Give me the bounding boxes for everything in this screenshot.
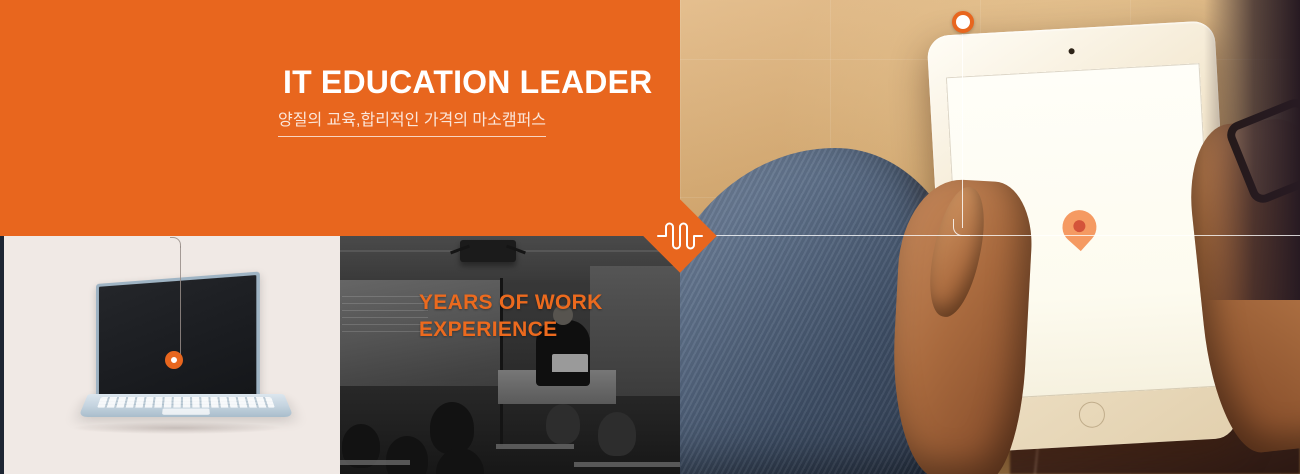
laptop-trackpad	[162, 408, 210, 414]
audience-head	[598, 412, 636, 456]
laptop-shadow	[74, 422, 280, 434]
ceiling-projector	[460, 240, 516, 262]
tablet-camera	[1068, 48, 1074, 54]
page-title: IT EDUCATION LEADER	[283, 64, 652, 101]
map-pin-icon	[1062, 209, 1099, 257]
left-edge-strip	[0, 236, 4, 474]
laptop-lid	[96, 271, 260, 406]
audience-head	[430, 402, 474, 454]
tablet-home-button	[1078, 401, 1105, 428]
hero-orange-panel: IT EDUCATION LEADER 양질의 교육,합리적인 가격의 마소캠퍼…	[0, 0, 680, 236]
years-caption-line1: YEARS OF WORK	[419, 290, 603, 317]
laptop-device	[88, 284, 288, 442]
laptop-keyboard	[97, 397, 275, 408]
laptop-base	[78, 394, 293, 417]
audience-head	[546, 404, 580, 444]
years-caption-line2: EXPERIENCE	[419, 317, 603, 344]
classroom-photo-tile: YEARS OF WORK EXPERIENCE	[340, 236, 680, 474]
laptop-screen	[99, 275, 256, 403]
hero-banner: IT EDUCATION LEADER 양질의 교육,합리적인 가격의 마소캠퍼…	[0, 0, 1300, 474]
tablet-photo-tile	[680, 0, 1300, 474]
years-caption: YEARS OF WORK EXPERIENCE	[419, 290, 603, 344]
page-subtitle: 양질의 교육,합리적인 가격의 마소캠퍼스	[278, 106, 546, 137]
connector-line-vertical-right	[962, 34, 963, 228]
photo-dark-edge	[1204, 0, 1300, 300]
circle-node-icon-tablet	[952, 11, 974, 33]
connector-line-vertical-laptop	[180, 246, 181, 358]
instructor-laptop	[552, 354, 588, 372]
classroom-table	[574, 462, 680, 467]
classroom-table	[496, 444, 574, 449]
classroom-table	[340, 460, 410, 465]
connector-line-horizontal	[700, 235, 1300, 236]
circle-node-icon-laptop	[165, 351, 183, 369]
